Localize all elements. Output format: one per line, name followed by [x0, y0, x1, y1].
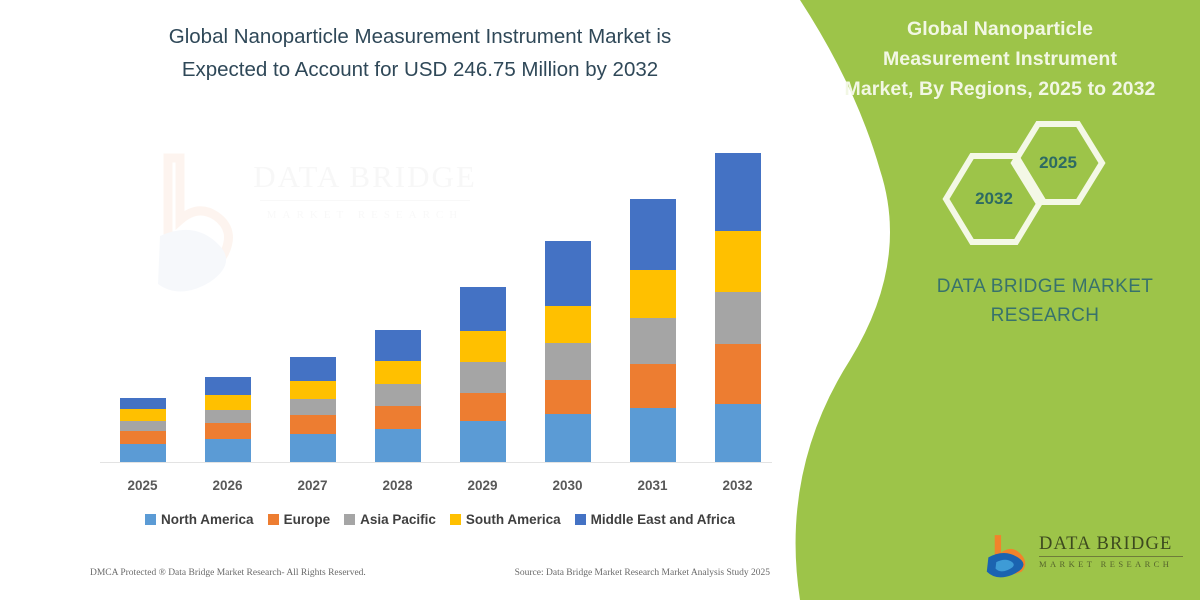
company-logo: DATA BRIDGE MARKET RESEARCH	[985, 530, 1185, 582]
bar-segment-asia-pacific	[375, 384, 421, 406]
legend-label: North America	[161, 512, 254, 527]
bar-2029	[460, 287, 506, 462]
bar-segment-north-america	[545, 414, 591, 462]
infographic-canvas: Global Nanoparticle Measurement Instrume…	[0, 0, 1200, 600]
bar-segment-north-america	[630, 408, 676, 462]
page-title: Global Nanoparticle Measurement Instrume…	[60, 20, 780, 86]
legend-label: Asia Pacific	[360, 512, 436, 527]
bar-segment-middle-east-and-africa	[290, 357, 336, 381]
panel-title-line-2: Measurement Instrument	[800, 44, 1200, 74]
bar-segment-middle-east-and-africa	[545, 241, 591, 306]
brand-name: DATA BRIDGE MARKET RESEARCH	[890, 272, 1200, 330]
brand-name-line-1: DATA BRIDGE MARKET	[890, 272, 1200, 301]
bar-segment-south-america	[545, 306, 591, 343]
bar-segment-asia-pacific	[120, 421, 166, 431]
x-axis-label-2028: 2028	[375, 478, 421, 493]
hexagon-start-year-label: 2025	[1010, 120, 1106, 206]
panel-title: Global Nanoparticle Measurement Instrume…	[800, 14, 1200, 104]
bar-segment-south-america	[375, 361, 421, 384]
bar-segment-middle-east-and-africa	[205, 377, 251, 395]
bar-segment-europe	[630, 364, 676, 408]
chart-legend: North AmericaEuropeAsia PacificSouth Ame…	[100, 512, 780, 527]
page-title-line-2: Expected to Account for USD 246.75 Milli…	[60, 53, 780, 86]
legend-item-north-america[interactable]: North America	[145, 512, 254, 527]
logo-wordmark: DATA BRIDGE MARKET RESEARCH	[1039, 534, 1189, 570]
legend-swatch-icon	[145, 514, 156, 525]
x-axis-labels: 20252026202720282029203020312032	[100, 478, 780, 493]
bar-segment-south-america	[715, 231, 761, 292]
legend-item-europe[interactable]: Europe	[268, 512, 331, 527]
bar-segment-asia-pacific	[290, 399, 336, 415]
x-axis-label-2031: 2031	[630, 478, 676, 493]
legend-label: South America	[466, 512, 561, 527]
bar-segment-asia-pacific	[460, 362, 506, 393]
bar-segment-south-america	[205, 395, 251, 410]
logo-divider	[1039, 556, 1183, 557]
footer: DMCA Protected ® Data Bridge Market Rese…	[90, 568, 780, 578]
bar-segment-middle-east-and-africa	[120, 398, 166, 409]
logo-subtitle: MARKET RESEARCH	[1039, 559, 1189, 570]
legend-item-middle-east-and-africa[interactable]: Middle East and Africa	[575, 512, 735, 527]
bar-segment-north-america	[715, 404, 761, 462]
bar-chart-plot	[100, 100, 780, 462]
x-axis-label-2027: 2027	[290, 478, 336, 493]
bar-segment-north-america	[205, 439, 251, 462]
bar-segment-asia-pacific	[205, 410, 251, 423]
panel-title-line-1: Global Nanoparticle	[800, 14, 1200, 44]
legend-item-south-america[interactable]: South America	[450, 512, 561, 527]
bar-segment-asia-pacific	[545, 343, 591, 380]
footer-source: Source: Data Bridge Market Research Mark…	[515, 568, 770, 578]
bar-segment-north-america	[460, 421, 506, 462]
bar-segment-middle-east-and-africa	[460, 287, 506, 331]
bar-segment-europe	[120, 431, 166, 444]
legend-swatch-icon	[450, 514, 461, 525]
bar-2030	[545, 241, 591, 462]
logo-title: DATA BRIDGE	[1039, 534, 1189, 554]
bar-segment-middle-east-and-africa	[630, 199, 676, 270]
bar-segment-north-america	[290, 434, 336, 462]
bar-segment-asia-pacific	[630, 318, 676, 364]
brand-name-line-2: RESEARCH	[890, 301, 1200, 330]
legend-swatch-icon	[575, 514, 586, 525]
legend-item-asia-pacific[interactable]: Asia Pacific	[344, 512, 436, 527]
bar-segment-middle-east-and-africa	[375, 330, 421, 361]
x-axis-label-2025: 2025	[120, 478, 166, 493]
bar-segment-north-america	[375, 429, 421, 462]
bar-segment-europe	[460, 393, 506, 421]
bar-segment-south-america	[460, 331, 506, 362]
bar-segment-north-america	[120, 444, 166, 462]
bar-segment-europe	[375, 406, 421, 429]
hexagon-badge-start-year: 2025	[1010, 120, 1106, 206]
hexagon-badges: 2032 2025	[930, 120, 1110, 230]
legend-swatch-icon	[344, 514, 355, 525]
legend-swatch-icon	[268, 514, 279, 525]
bar-2025	[120, 398, 166, 462]
x-axis-label-2030: 2030	[545, 478, 591, 493]
bar-2028	[375, 330, 421, 462]
panel-title-line-3: Market, By Regions, 2025 to 2032	[800, 74, 1200, 104]
bar-segment-south-america	[290, 381, 336, 399]
bar-segment-europe	[545, 380, 591, 414]
legend-label: Middle East and Africa	[591, 512, 735, 527]
x-axis-line	[100, 462, 772, 463]
bar-segment-south-america	[630, 270, 676, 318]
footer-copyright: DMCA Protected ® Data Bridge Market Rese…	[90, 568, 366, 578]
x-axis-label-2032: 2032	[715, 478, 761, 493]
x-axis-label-2026: 2026	[205, 478, 251, 493]
bar-2027	[290, 357, 336, 462]
bar-segment-europe	[290, 415, 336, 434]
bar-2032	[715, 153, 761, 462]
x-axis-label-2029: 2029	[460, 478, 506, 493]
bar-segment-middle-east-and-africa	[715, 153, 761, 231]
bar-segment-asia-pacific	[715, 292, 761, 344]
bar-2026	[205, 377, 251, 462]
bar-segment-south-america	[120, 409, 166, 421]
page-title-line-1: Global Nanoparticle Measurement Instrume…	[60, 20, 780, 53]
data-bridge-logo-icon	[985, 532, 1033, 578]
bar-2031	[630, 199, 676, 462]
legend-label: Europe	[284, 512, 331, 527]
bar-segment-europe	[205, 423, 251, 439]
bar-segment-europe	[715, 344, 761, 404]
